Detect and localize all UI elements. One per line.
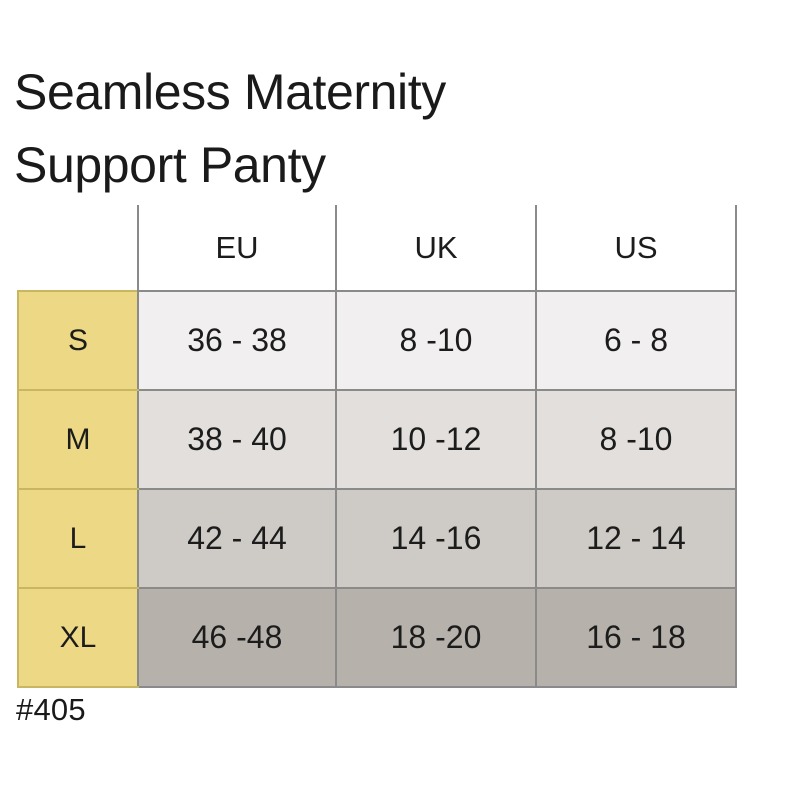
cell-us: 6 - 8 xyxy=(536,291,736,390)
column-header-uk: UK xyxy=(336,205,536,291)
style-code: #405 xyxy=(16,692,86,728)
cell-eu: 42 - 44 xyxy=(138,489,336,588)
size-chart-page: Seamless Maternity Support Panty EU UK U… xyxy=(0,0,800,800)
cell-uk: 18 -20 xyxy=(336,588,536,687)
page-title-line-2: Support Panty xyxy=(14,129,634,202)
row-size-label: M xyxy=(18,390,138,489)
row-size-label: L xyxy=(18,489,138,588)
row-size-label: XL xyxy=(18,588,138,687)
cell-uk: 14 -16 xyxy=(336,489,536,588)
table-row: XL 46 -48 18 -20 16 - 18 xyxy=(18,588,736,687)
cell-eu: 38 - 40 xyxy=(138,390,336,489)
size-chart-table-wrapper: EU UK US S 36 - 38 8 -10 6 - 8 M 38 - 40… xyxy=(17,205,735,688)
table-header: EU UK US xyxy=(18,205,736,291)
table-header-row: EU UK US xyxy=(18,205,736,291)
column-header-us: US xyxy=(536,205,736,291)
row-size-label: S xyxy=(18,291,138,390)
page-title-line-1: Seamless Maternity xyxy=(14,56,634,129)
table-body: S 36 - 38 8 -10 6 - 8 M 38 - 40 10 -12 8… xyxy=(18,291,736,687)
cell-eu: 46 -48 xyxy=(138,588,336,687)
size-chart-table: EU UK US S 36 - 38 8 -10 6 - 8 M 38 - 40… xyxy=(17,205,737,688)
table-row: L 42 - 44 14 -16 12 - 14 xyxy=(18,489,736,588)
cell-us: 16 - 18 xyxy=(536,588,736,687)
table-row: M 38 - 40 10 -12 8 -10 xyxy=(18,390,736,489)
page-title: Seamless Maternity Support Panty xyxy=(14,56,634,202)
column-header-eu: EU xyxy=(138,205,336,291)
header-size-corner xyxy=(18,205,138,291)
cell-us: 8 -10 xyxy=(536,390,736,489)
cell-uk: 8 -10 xyxy=(336,291,536,390)
cell-eu: 36 - 38 xyxy=(138,291,336,390)
cell-us: 12 - 14 xyxy=(536,489,736,588)
cell-uk: 10 -12 xyxy=(336,390,536,489)
table-row: S 36 - 38 8 -10 6 - 8 xyxy=(18,291,736,390)
